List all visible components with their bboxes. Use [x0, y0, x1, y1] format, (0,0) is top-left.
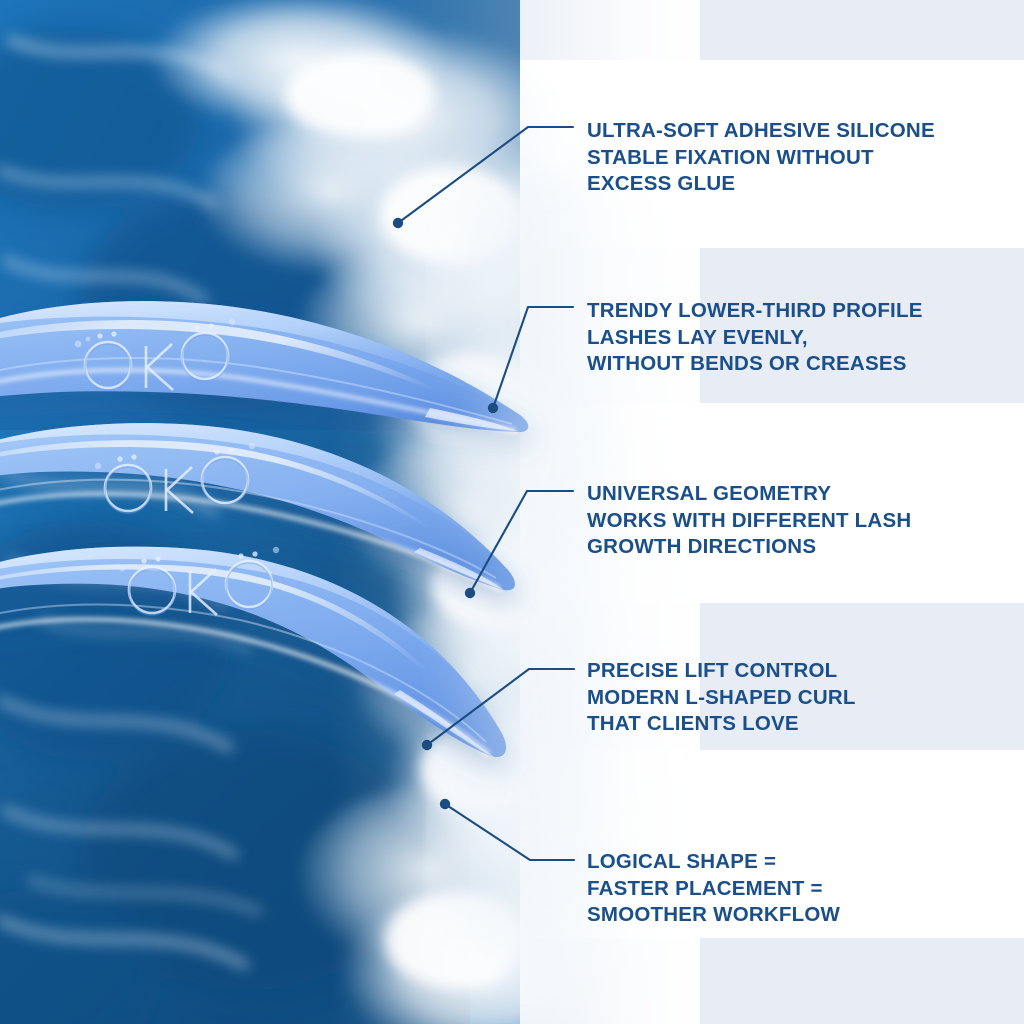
callout-precise-lift-control: PRECISE LIFT CONTROLMODERN L-SHAPED CURL…: [587, 658, 856, 738]
callout-line: TRENDY LOWER-THIRD PROFILE: [587, 298, 923, 325]
callout-line: EXCESS GLUE: [587, 171, 935, 198]
callout-line: PRECISE LIFT CONTROL: [587, 658, 856, 685]
callout-line: THAT CLIENTS LOVE: [587, 711, 856, 738]
callout-line: LOGICAL SHAPE =: [587, 849, 840, 876]
callout-trendy-lower-third-profile: TRENDY LOWER-THIRD PROFILELASHES LAY EVE…: [587, 298, 923, 378]
callout-line: ULTRA-SOFT ADHESIVE SILICONE: [587, 118, 935, 145]
callout-line: MODERN L-SHAPED CURL: [587, 685, 856, 712]
callout-line: STABLE FIXATION WITHOUT: [587, 145, 935, 172]
callout-line: FASTER PLACEMENT =: [587, 876, 840, 903]
callout-line: UNIVERSAL GEOMETRY: [587, 481, 911, 508]
callout-line: SMOOTHER WORKFLOW: [587, 902, 840, 929]
callout-line: WITHOUT BENDS OR CREASES: [587, 351, 923, 378]
infographic-canvas: ULTRA-SOFT ADHESIVE SILICONESTABLE FIXAT…: [0, 0, 1024, 1024]
callout-universal-geometry: UNIVERSAL GEOMETRYWORKS WITH DIFFERENT L…: [587, 481, 911, 561]
callout-line: GROWTH DIRECTIONS: [587, 534, 911, 561]
callout-line: LASHES LAY EVENLY,: [587, 325, 923, 352]
callout-ultra-soft-adhesive-silicone: ULTRA-SOFT ADHESIVE SILICONESTABLE FIXAT…: [587, 118, 935, 198]
callout-line: WORKS WITH DIFFERENT LASH: [587, 508, 911, 535]
callout-group: ULTRA-SOFT ADHESIVE SILICONESTABLE FIXAT…: [0, 0, 1024, 1024]
callout-logical-shape: LOGICAL SHAPE =FASTER PLACEMENT =SMOOTHE…: [587, 849, 840, 929]
